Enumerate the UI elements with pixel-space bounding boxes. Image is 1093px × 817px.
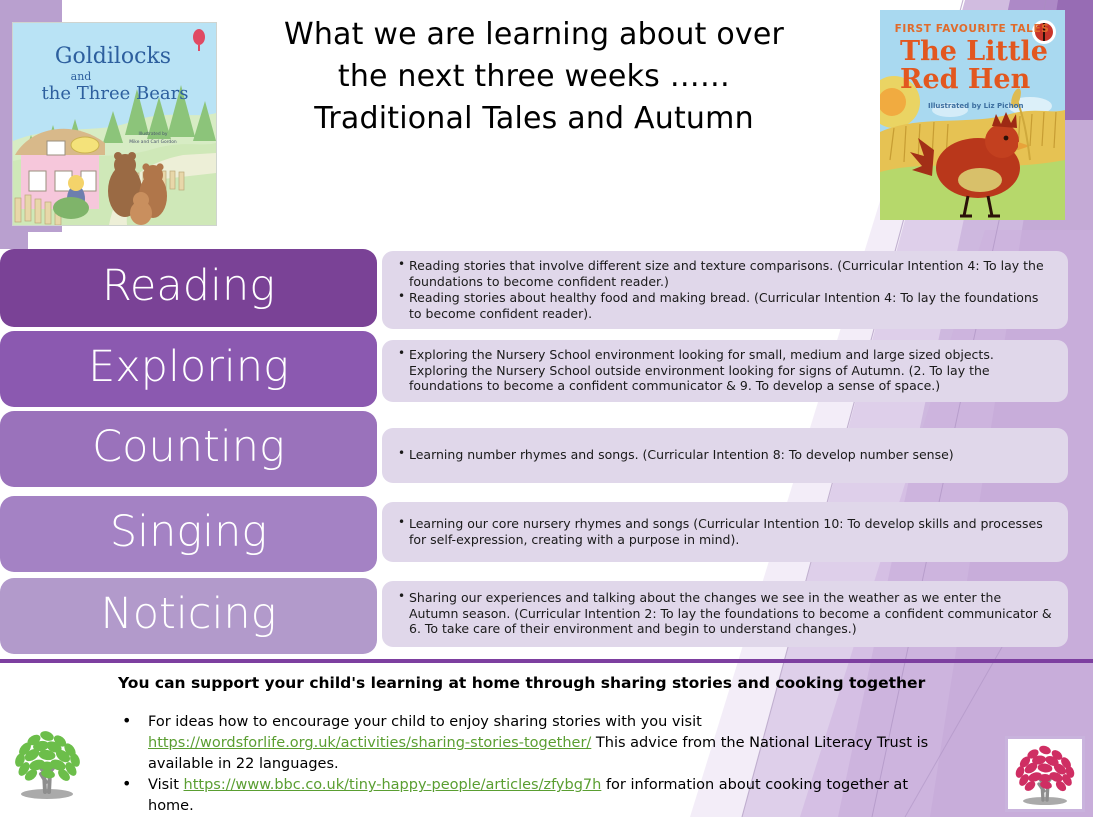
row-content-reading: Reading stories that involve different s… (382, 251, 1068, 329)
title-line-1: What we are learning about over (236, 14, 832, 56)
book-right-series: FIRST FAVOURITE TALES (895, 23, 1050, 35)
bullet-item: Learning number rhymes and songs. (Curri… (402, 447, 1054, 463)
row-label-text: Counting (92, 422, 285, 472)
title-line-2: the next three weeks …… (236, 56, 832, 98)
row-label-text: Noticing (101, 589, 277, 639)
row-label-counting[interactable]: Counting (0, 411, 377, 487)
row-label-text: Reading (102, 261, 275, 311)
row-label-text: Exploring (88, 342, 289, 392)
green-tree-logo-icon (8, 722, 86, 802)
row-content-singing: Learning our core nursery rhymes and son… (382, 502, 1068, 562)
footer-divider (0, 659, 1093, 663)
bullet-item: Learning our core nursery rhymes and son… (402, 516, 1054, 547)
title-line-3: Traditional Tales and Autumn (236, 98, 832, 140)
footer-list: For ideas how to encourage your child to… (116, 712, 956, 817)
list-item: Visit https://www.bbc.co.uk/tiny-happy-p… (116, 775, 956, 817)
footer-item2-pre: Visit (148, 777, 184, 793)
bullet-item: Reading stories about healthy food and m… (402, 290, 1054, 321)
pink-tree-logo-icon (1005, 736, 1085, 812)
bbc-tiny-happy-people-link[interactable]: https://www.bbc.co.uk/tiny-happy-people/… (184, 777, 602, 793)
book-left-title-line2: and (71, 70, 92, 83)
book-left-title-line3: the Three Bears (42, 83, 189, 104)
wordsforlife-link[interactable]: https://wordsforlife.org.uk/activities/s… (148, 735, 591, 751)
book-right-title-line2: Red Hen (900, 64, 1031, 95)
row-label-exploring[interactable]: Exploring (0, 331, 377, 407)
row-label-noticing[interactable]: Noticing (0, 578, 377, 654)
slide-canvas: Goldilocks and the Three Bears Illustrat… (0, 0, 1093, 817)
page-title: What we are learning about over the next… (236, 14, 832, 140)
row-label-text: Singing (110, 507, 267, 557)
svg-text:Illustrated by Liz Pichon: Illustrated by Liz Pichon (928, 102, 1023, 110)
svg-text:Illustrated by: Illustrated by (138, 131, 167, 137)
bullet-item: Reading stories that involve different s… (402, 258, 1054, 289)
book-right-title-line1: The Little (900, 36, 1048, 67)
row-content-noticing: Sharing our experiences and talking abou… (382, 581, 1068, 647)
row-content-counting: Learning number rhymes and songs. (Curri… (382, 428, 1068, 483)
footer-item1-pre: For ideas how to encourage your child to… (148, 714, 702, 730)
book-cover-goldilocks: Goldilocks and the Three Bears Illustrat… (12, 22, 217, 226)
row-content-exploring: Exploring the Nursery School environment… (382, 340, 1068, 402)
bullet-item: Sharing our experiences and talking abou… (402, 590, 1054, 637)
row-label-singing[interactable]: Singing (0, 496, 377, 572)
footer-heading: You can support your child's learning at… (118, 674, 918, 692)
svg-text:Mike and Carl Gordon: Mike and Carl Gordon (129, 139, 177, 145)
list-item: For ideas how to encourage your child to… (116, 712, 956, 775)
book-left-title-line1: Goldilocks (55, 44, 171, 69)
row-label-reading[interactable]: Reading (0, 249, 377, 327)
book-cover-little-red-hen: FIRST FAVOURITE TALES The Little Red Hen… (880, 10, 1065, 220)
bullet-item: Exploring the Nursery School environment… (402, 347, 1054, 394)
